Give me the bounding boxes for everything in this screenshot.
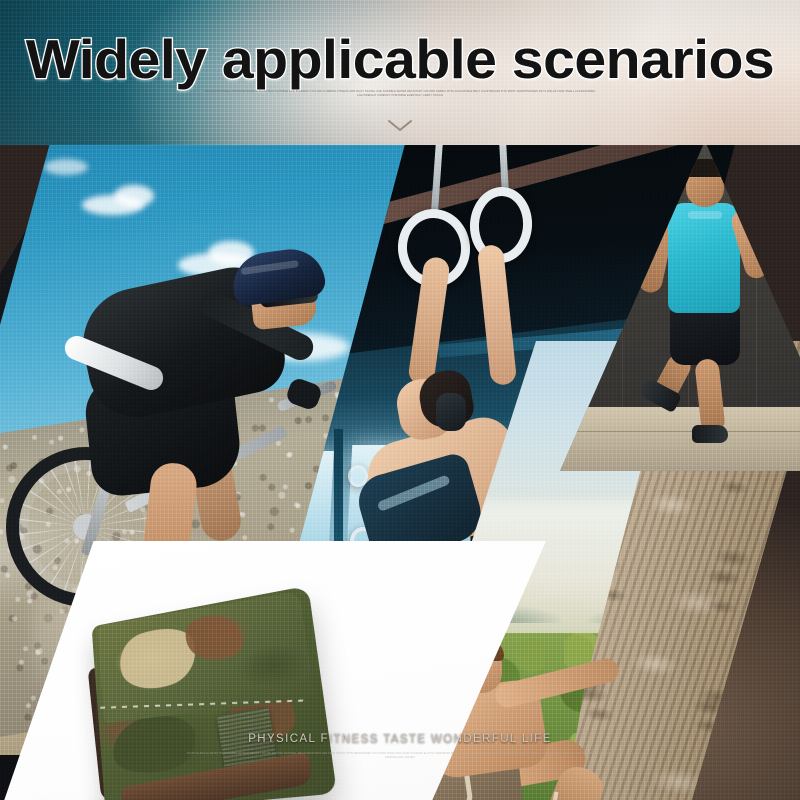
gymnast-arm-left [407,256,451,386]
scenario-collage: PHYSICAL FITNESS TASTE WONDERFUL LIFE TA… [0,145,800,800]
header-microtext: MULTIFUNCTIONAL OUTDOOR SPORTS WAIST BAG… [200,90,600,98]
gymnast-headphones [436,393,466,431]
footer-caption: PHYSICAL FITNESS TASTE WONDERFUL LIFE [0,733,800,745]
cloud-shape [44,159,88,175]
climbing-rope-secondary [534,792,559,800]
poster-banner: Widely applicable scenarios MULTIFUNCTIO… [0,0,800,800]
header-banner: Widely applicable scenarios MULTIFUNCTIO… [0,0,800,145]
chevron-down-icon [387,119,413,132]
runner-leg-front [694,358,726,434]
runner-shoe-front [692,425,728,443]
climber-arm [493,656,621,710]
gymnast-arm-right [477,244,517,386]
runner-tank-top [668,203,740,313]
camo-pouch-product [78,591,330,800]
footer-caption-block: PHYSICAL FITNESS TASTE WONDERFUL LIFE TA… [0,733,800,759]
footer-microtext: TACTICAL MOLLE WAIST POUCH MADE OF HIGH … [185,752,615,759]
page-title: Widely applicable scenarios [0,28,800,90]
